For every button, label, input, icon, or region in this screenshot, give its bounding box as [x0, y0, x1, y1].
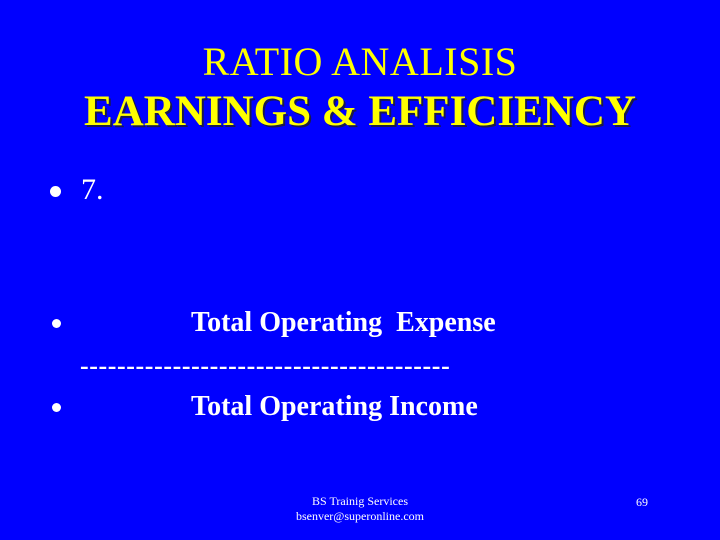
slide-footer: BS Trainig Services bsenver@superonline.…: [0, 494, 720, 524]
footer-organization: BS Trainig Services: [0, 494, 720, 509]
bullet-item-1-label: 7.: [81, 172, 104, 208]
fraction-divider-line: ----------------------------------------: [80, 352, 640, 380]
title-line-2: EARNINGS & EFFICIENCY: [0, 86, 720, 138]
bullet-item-3: Total Operating Income: [52, 390, 478, 424]
bullet-dot-icon: [52, 403, 61, 412]
bullet-item-2: Total Operating Expense: [52, 306, 496, 340]
slide-title: RATIO ANALISIS EARNINGS & EFFICIENCY: [0, 38, 720, 138]
footer-email: bsenver@superonline.com: [0, 509, 720, 524]
bullet-item-2-label: Total Operating Expense: [191, 306, 496, 340]
bullet-item-3-label: Total Operating Income: [191, 390, 478, 424]
title-line-1: RATIO ANALISIS: [0, 38, 720, 86]
bullet-dot-icon: [50, 186, 61, 197]
slide-canvas: RATIO ANALISIS EARNINGS & EFFICIENCY 7. …: [0, 0, 720, 540]
bullet-dot-icon: [52, 319, 61, 328]
page-number: 69: [636, 495, 648, 510]
bullet-item-1: 7.: [50, 172, 104, 208]
